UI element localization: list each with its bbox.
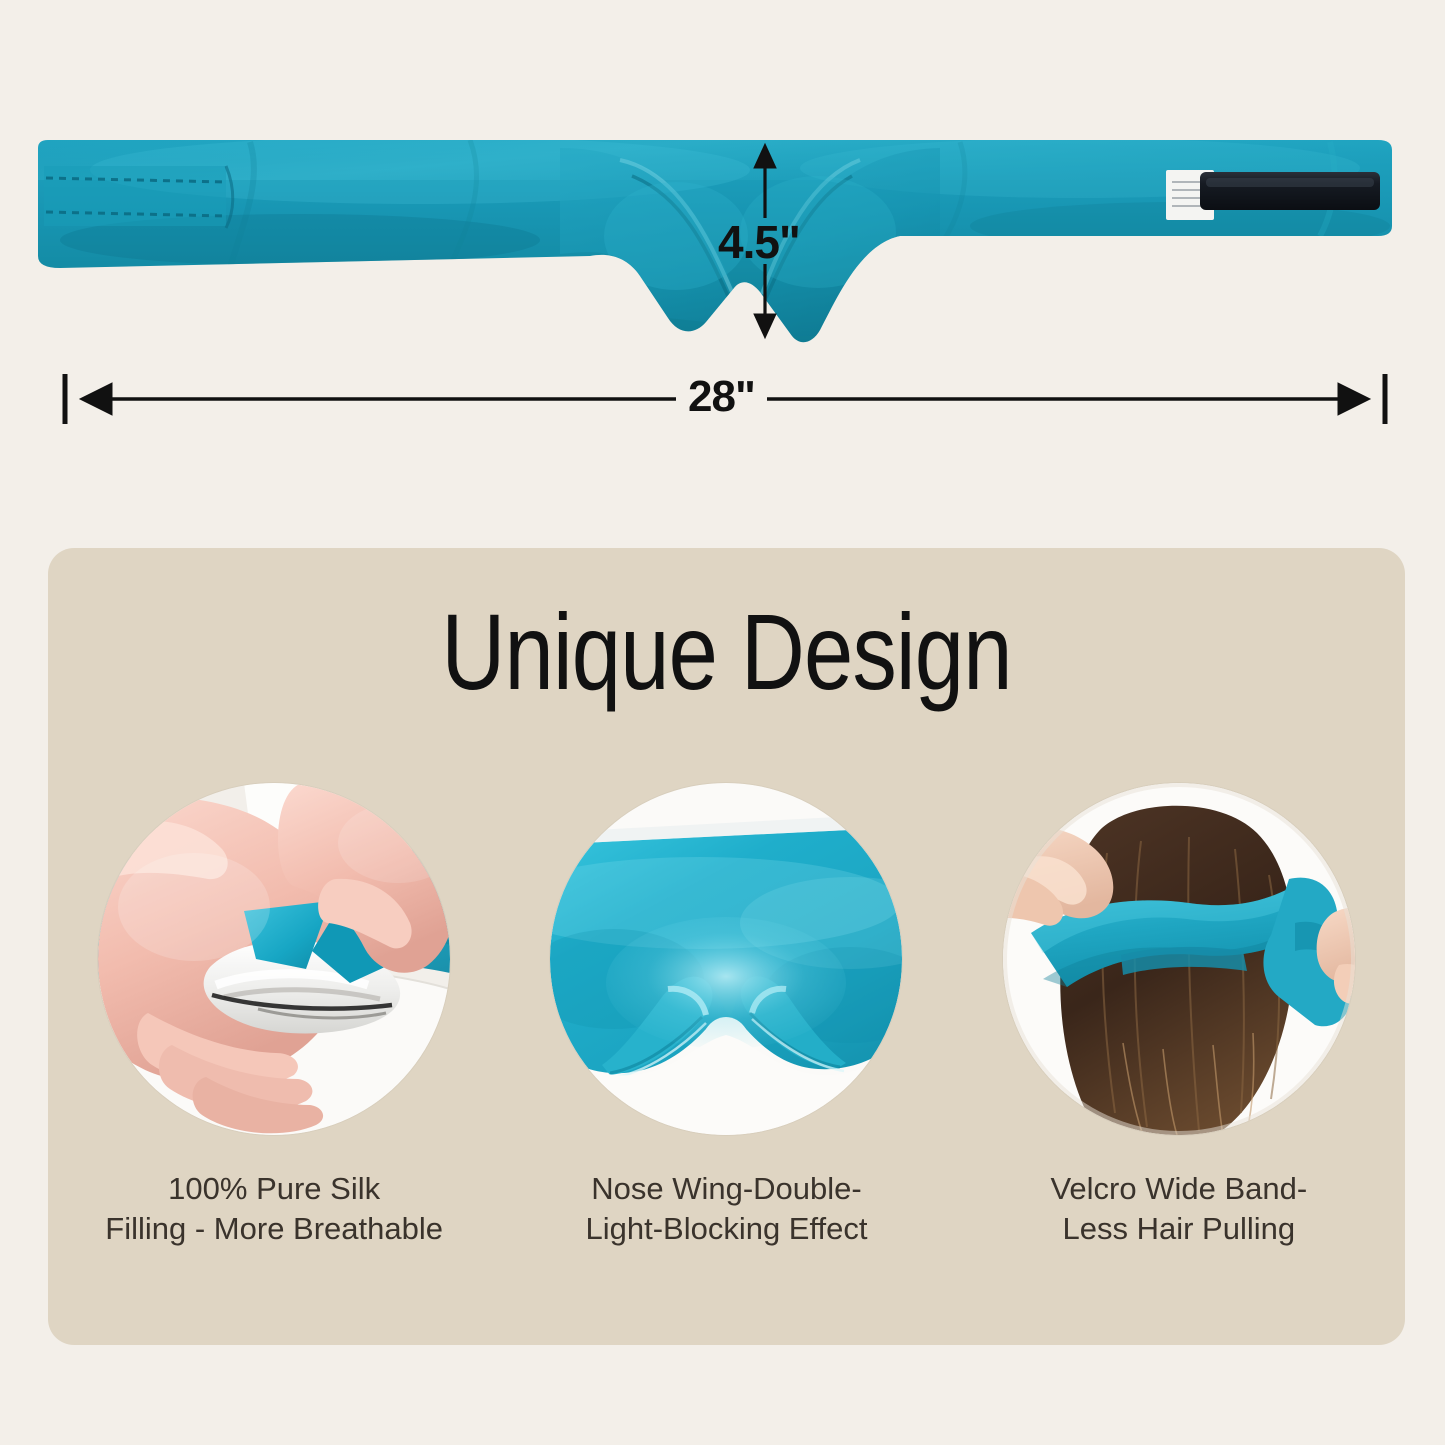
panel-title: Unique Design — [170, 598, 1283, 706]
infographic-canvas: 4.5" 28" Unique Design — [0, 0, 1445, 1445]
nose-wing-photo — [550, 783, 902, 1135]
velcro-band-photo — [1003, 783, 1355, 1135]
velcro-hook-strip — [1200, 172, 1380, 210]
width-dimension-label: 28" — [676, 372, 767, 422]
stitched-loop-strap — [44, 166, 233, 228]
height-dimension-label: 4.5" — [718, 215, 800, 269]
unique-design-panel: Unique Design — [48, 548, 1405, 1345]
feature-caption: Velcro Wide Band- Less Hair Pulling — [1050, 1169, 1307, 1248]
feature-caption: 100% Pure Silk Filling - More Breathable — [105, 1169, 443, 1248]
feature-silk-filling: 100% Pure Silk Filling - More Breathable — [79, 783, 469, 1248]
feature-caption: Nose Wing-Double- Light-Blocking Effect — [585, 1169, 867, 1248]
feature-nose-wing: Nose Wing-Double- Light-Blocking Effect — [531, 783, 921, 1248]
feature-velcro-band: Velcro Wide Band- Less Hair Pulling — [984, 783, 1374, 1248]
sleep-mask-product-image — [0, 0, 1445, 400]
silk-filling-photo — [98, 783, 450, 1135]
product-hero-section: 4.5" 28" — [0, 0, 1445, 520]
feature-list: 100% Pure Silk Filling - More Breathable — [48, 783, 1405, 1248]
